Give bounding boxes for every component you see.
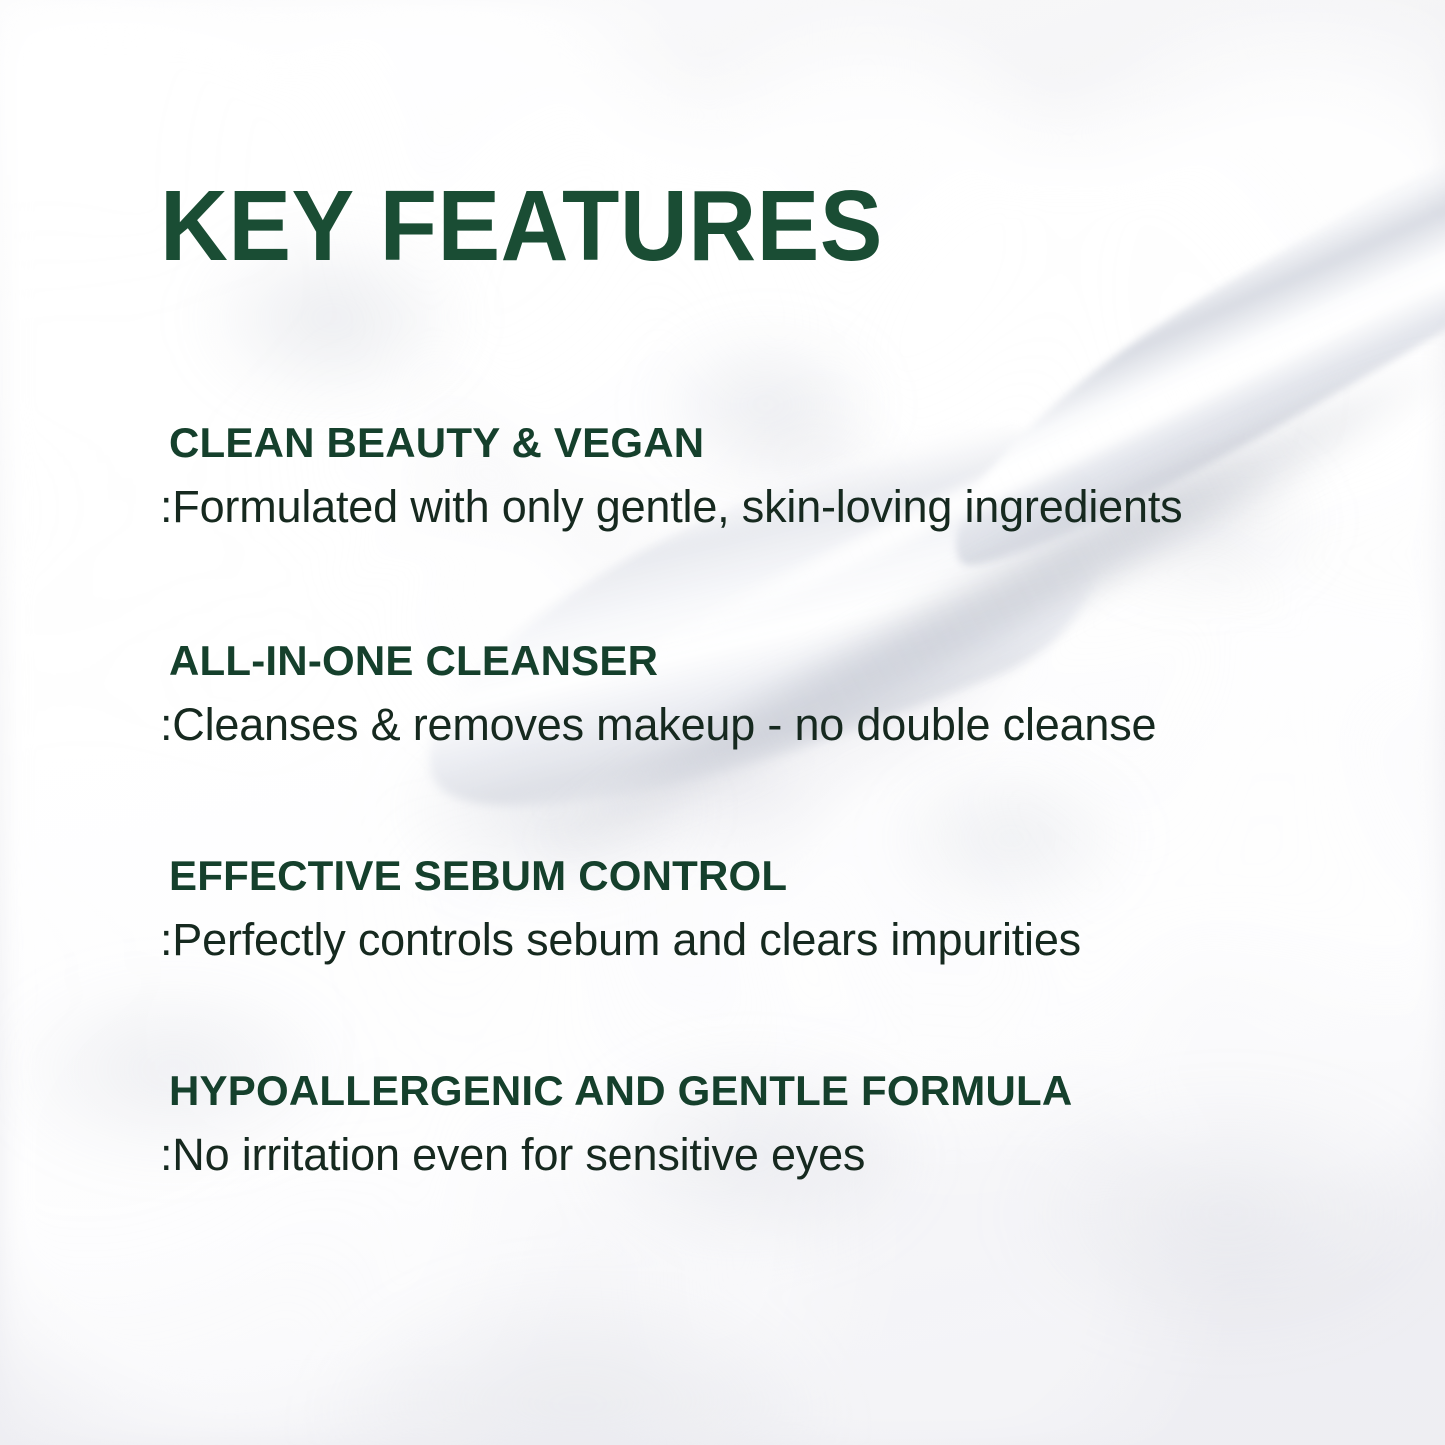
feature-heading: EFFECTIVE SEBUM CONTROL — [160, 853, 1360, 898]
feature-heading: HYPOALLERGENIC AND GENTLE FORMULA — [160, 1068, 1360, 1113]
feature-item-effective-sebum-control: EFFECTIVE SEBUM CONTROL :Perfectly contr… — [160, 853, 1360, 966]
feature-item-hypoallergenic-gentle-formula: HYPOALLERGENIC AND GENTLE FORMULA :No ir… — [160, 1068, 1360, 1181]
feature-description: :Perfectly controls sebum and clears imp… — [160, 915, 1360, 965]
feature-heading: CLEAN BEAUTY & VEGAN — [160, 420, 1360, 465]
page-title: KEY FEATURES — [160, 176, 883, 276]
feature-heading: ALL-IN-ONE CLEANSER — [160, 638, 1360, 683]
feature-description: :No irritation even for sensitive eyes — [160, 1130, 1360, 1180]
poster-content: KEY FEATURES CLEAN BEAUTY & VEGAN :Formu… — [0, 0, 1445, 1445]
feature-item-all-in-one-cleanser: ALL-IN-ONE CLEANSER :Cleanses & removes … — [160, 638, 1360, 751]
feature-item-clean-beauty-vegan: CLEAN BEAUTY & VEGAN :Formulated with on… — [160, 420, 1360, 533]
feature-description: :Cleanses & removes makeup - no double c… — [160, 700, 1360, 750]
key-features-poster: KEY FEATURES CLEAN BEAUTY & VEGAN :Formu… — [0, 0, 1445, 1445]
feature-description: :Formulated with only gentle, skin-lovin… — [160, 482, 1360, 532]
